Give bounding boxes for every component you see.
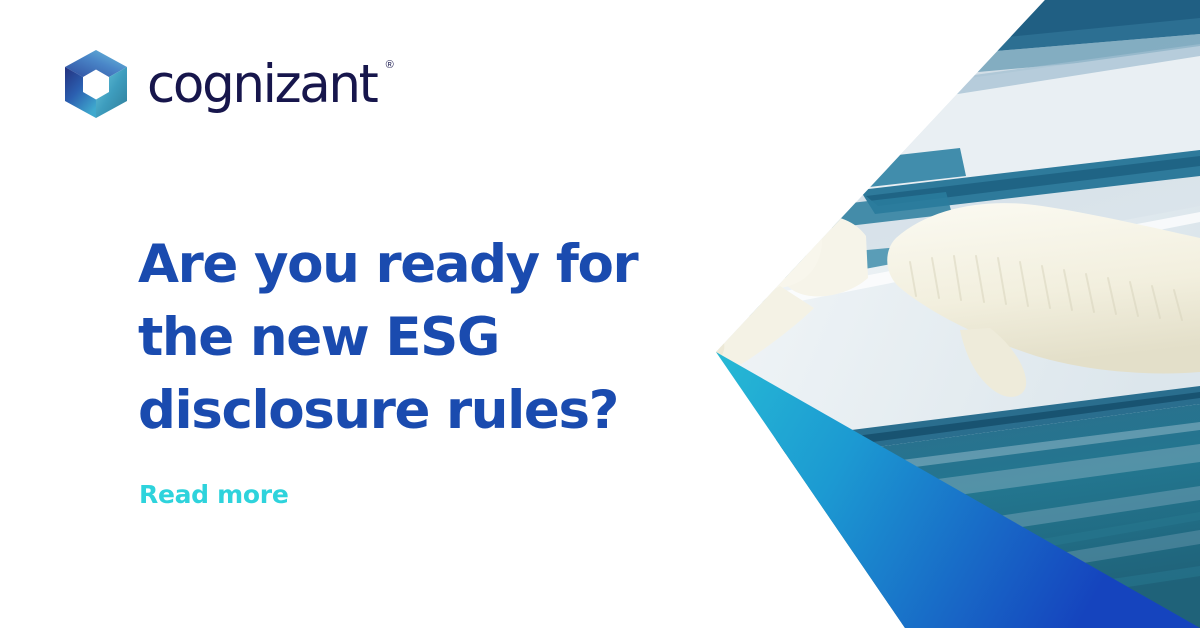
headline-line-1: Are you ready for: [138, 228, 698, 301]
registered-trademark-icon: ®: [386, 60, 394, 71]
headline: Are you ready for the new ESG disclosure…: [138, 228, 698, 447]
headline-line-3: disclosure rules?: [138, 374, 698, 447]
hero-artwork: [660, 0, 1200, 628]
read-more-link[interactable]: Read more: [139, 482, 289, 507]
cognizant-cube-logo-icon: [62, 49, 130, 119]
headline-line-2: the new ESG: [138, 301, 698, 374]
polar-bear-ice-photo: [660, 0, 1200, 628]
marketing-banner: cognizant ® Are you ready for the new ES…: [0, 0, 1200, 628]
cognizant-wordmark: cognizant: [147, 58, 377, 111]
cognizant-wordmark-group: cognizant ®: [147, 58, 394, 111]
cognizant-logo-lockup[interactable]: cognizant ®: [62, 48, 394, 120]
